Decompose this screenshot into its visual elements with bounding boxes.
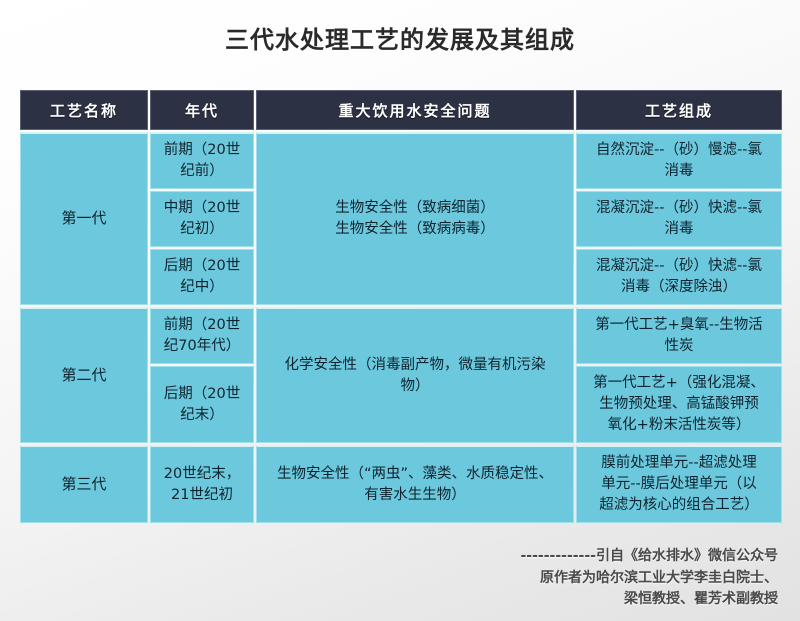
- source-credit: -------------引自《给水排水》微信公众号 原作者为哈尔滨工业大学李圭…: [358, 546, 778, 611]
- page-title: 三代水处理工艺的发展及其组成: [0, 20, 800, 55]
- cell-era-line: 前期（20世: [159, 315, 245, 336]
- credit-line-authors-1: 原作者为哈尔滨工业大学李圭白院士、: [358, 568, 778, 590]
- cell-era: 中期（20世 纪初）: [150, 191, 254, 247]
- table-row: 第二代 前期（20世 纪70年代） 化学安全性（消毒副产物，微量有机污染 物） …: [20, 307, 782, 364]
- cell-process-composition: 混凝沉淀--（砂）快滤--氯 消毒（深度除浊）: [576, 249, 782, 305]
- cell-issue-line: 物）: [265, 376, 565, 397]
- cell-process-line: 第一代工艺+（强化混凝、: [585, 373, 773, 394]
- cell-issue-line: 生物安全性（“两虫”、藻类、水质稳定性、: [265, 464, 565, 485]
- table-row: 第一代 前期（20世 纪前） 生物安全性（致病细菌） 生物安全性（致病病毒） 自…: [20, 132, 782, 189]
- cell-process-composition: 膜前处理单元--超滤处理 单元--膜后处理单元（以 超滤为核心的组合工艺）: [576, 445, 782, 523]
- cell-era-line: 后期（20世: [159, 384, 245, 405]
- cell-safety-issue: 化学安全性（消毒副产物，微量有机污染 物）: [256, 307, 574, 443]
- cell-era-line: 21世纪初: [159, 485, 245, 506]
- process-table: 工艺名称 年代 重大饮用水安全问题 工艺组成 第一代 前期（20世 纪前） 生物…: [18, 88, 784, 525]
- cell-era-line: 纪末）: [159, 405, 245, 426]
- process-table-container: 工艺名称 年代 重大饮用水安全问题 工艺组成 第一代 前期（20世 纪前） 生物…: [18, 88, 782, 525]
- cell-process-line: 自然沉淀--（砂）慢滤--氯: [585, 140, 773, 161]
- cell-issue-line: 化学安全性（消毒副产物，微量有机污染: [265, 355, 565, 376]
- cell-era-line: 后期（20世: [159, 256, 245, 277]
- cell-generation-name: 第一代: [20, 132, 148, 305]
- cell-process-line: 生物预处理、高锰酸钾预: [585, 394, 773, 415]
- table-row: 第三代 20世纪末， 21世纪初 生物安全性（“两虫”、藻类、水质稳定性、 有害…: [20, 445, 782, 523]
- cell-safety-issue: 生物安全性（“两虫”、藻类、水质稳定性、 有害水生生物）: [256, 445, 574, 523]
- cell-process-line: 超滤为核心的组合工艺）: [585, 495, 773, 516]
- cell-process-line: 消毒: [585, 161, 773, 182]
- cell-era-line: 纪初）: [159, 219, 245, 240]
- cell-era: 后期（20世 纪中）: [150, 249, 254, 305]
- cell-generation-name: 第三代: [20, 445, 148, 523]
- cell-era: 前期（20世 纪70年代）: [150, 307, 254, 364]
- column-header-process-composition: 工艺组成: [576, 90, 782, 130]
- cell-process-line: 混凝沉淀--（砂）快滤--氯: [585, 198, 773, 219]
- cell-issue-line: 生物安全性（致病病毒）: [265, 219, 565, 240]
- cell-era: 20世纪末， 21世纪初: [150, 445, 254, 523]
- cell-era-line: 20世纪末，: [159, 464, 245, 485]
- cell-process-composition: 自然沉淀--（砂）慢滤--氯 消毒: [576, 132, 782, 189]
- cell-era: 后期（20世 纪末）: [150, 366, 254, 443]
- table-header-row: 工艺名称 年代 重大饮用水安全问题 工艺组成: [20, 90, 782, 130]
- cell-process-line: 膜前处理单元--超滤处理: [585, 453, 773, 474]
- cell-process-line: 消毒（深度除浊）: [585, 277, 773, 298]
- credit-line-source: -------------引自《给水排水》微信公众号: [358, 546, 778, 568]
- table-header: 工艺名称 年代 重大饮用水安全问题 工艺组成: [20, 90, 782, 130]
- cell-process-line: 第一代工艺+臭氧--生物活: [585, 315, 773, 336]
- cell-process-line: 性炭: [585, 336, 773, 357]
- cell-generation-name: 第二代: [20, 307, 148, 443]
- cell-issue-line: 有害水生生物）: [265, 485, 565, 506]
- cell-process-composition: 第一代工艺+（强化混凝、 生物预处理、高锰酸钾预 氧化+粉末活性炭等）: [576, 366, 782, 443]
- cell-process-composition: 混凝沉淀--（砂）快滤--氯 消毒: [576, 191, 782, 247]
- cell-issue-line: 生物安全性（致病细菌）: [265, 198, 565, 219]
- slide-root: 三代水处理工艺的发展及其组成 工艺名称 年代 重大饮用水安全问题 工艺组成 第一…: [0, 0, 800, 621]
- cell-era-line: 前期（20世: [159, 140, 245, 161]
- cell-process-line: 混凝沉淀--（砂）快滤--氯: [585, 256, 773, 277]
- column-header-process-name: 工艺名称: [20, 90, 148, 130]
- cell-process-composition: 第一代工艺+臭氧--生物活 性炭: [576, 307, 782, 364]
- cell-era-line: 中期（20世: [159, 198, 245, 219]
- column-header-era: 年代: [150, 90, 254, 130]
- cell-process-line: 单元--膜后处理单元（以: [585, 474, 773, 495]
- cell-safety-issue: 生物安全性（致病细菌） 生物安全性（致病病毒）: [256, 132, 574, 305]
- cell-era: 前期（20世 纪前）: [150, 132, 254, 189]
- cell-era-line: 纪中）: [159, 277, 245, 298]
- column-header-safety-issue: 重大饮用水安全问题: [256, 90, 574, 130]
- cell-era-line: 纪前）: [159, 161, 245, 182]
- cell-era-line: 纪70年代）: [159, 336, 245, 357]
- cell-process-line: 消毒: [585, 219, 773, 240]
- table-body: 第一代 前期（20世 纪前） 生物安全性（致病细菌） 生物安全性（致病病毒） 自…: [20, 132, 782, 523]
- credit-line-authors-2: 梁恒教授、瞿芳术副教授: [358, 589, 778, 611]
- cell-process-line: 氧化+粉末活性炭等）: [585, 415, 773, 436]
